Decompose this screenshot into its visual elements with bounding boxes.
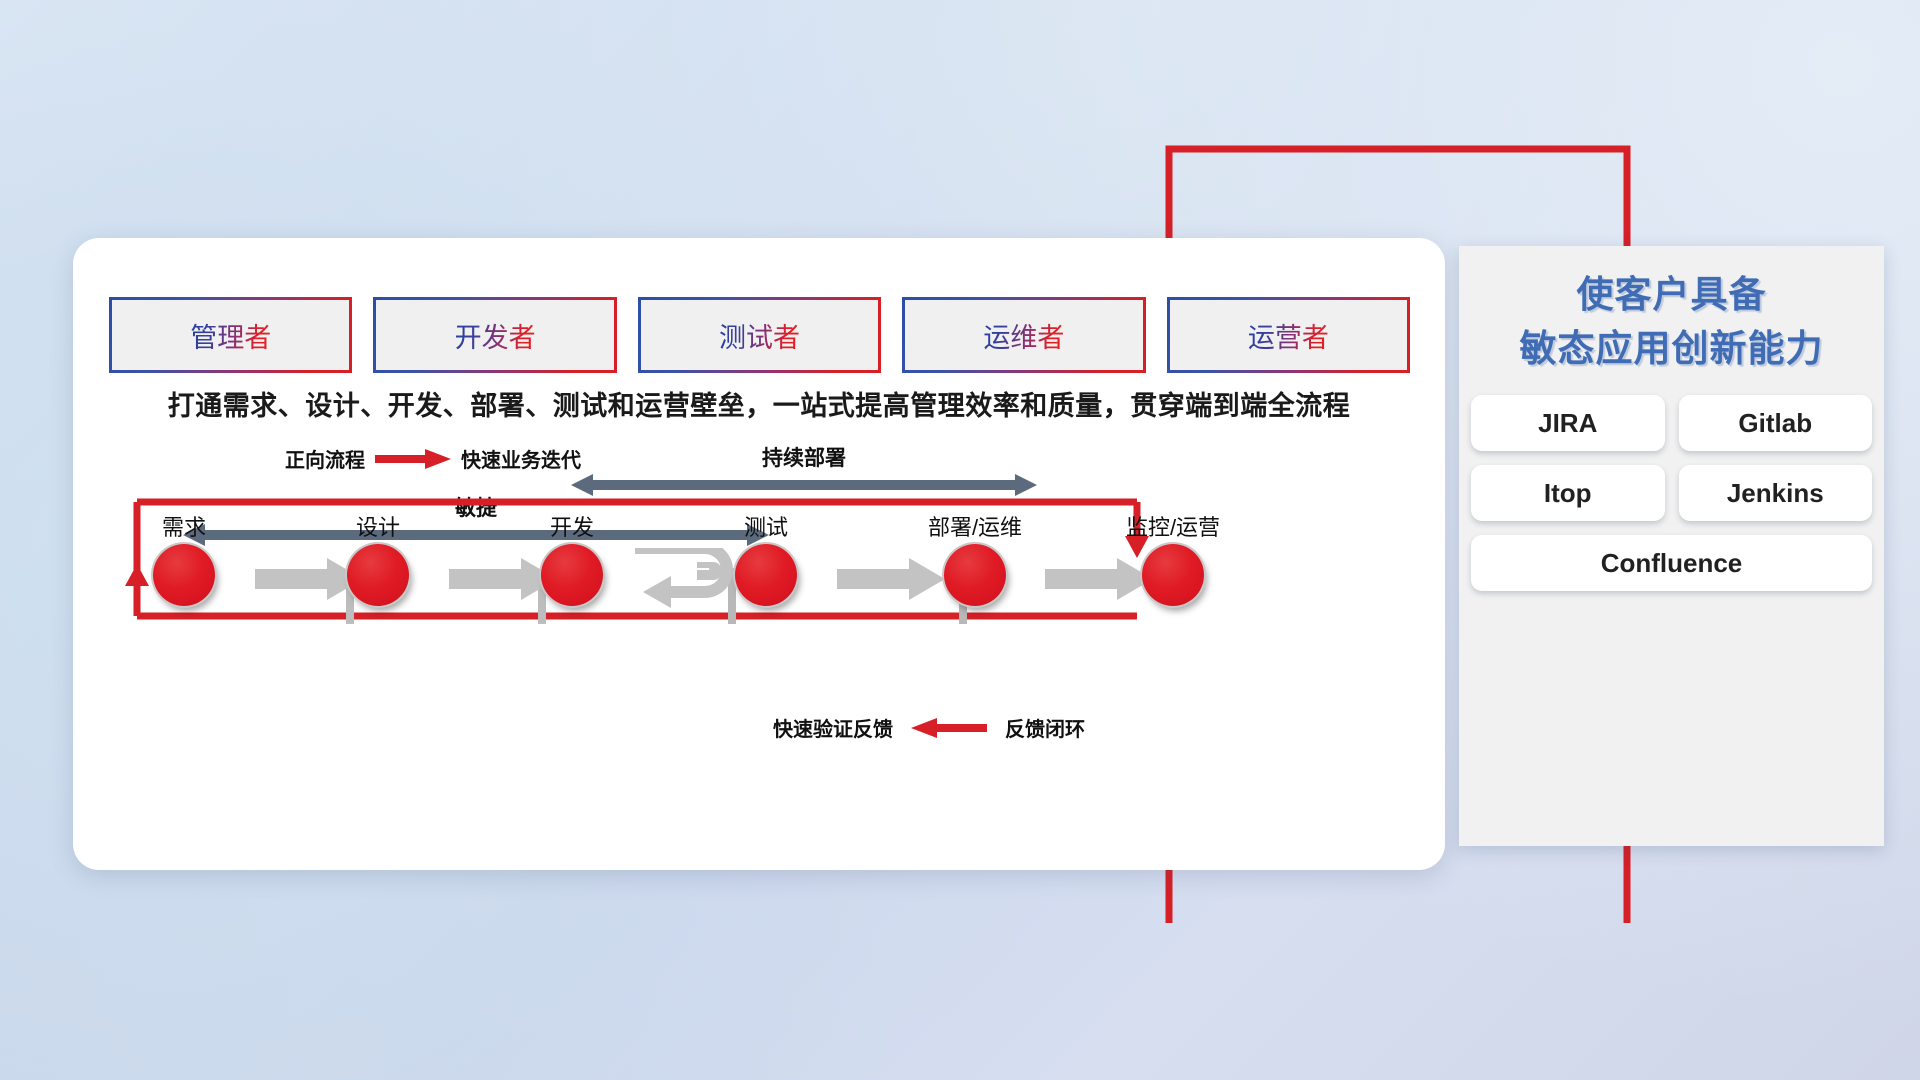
pipeline-stage-dot (944, 544, 1006, 606)
pipeline-stage-label: 部署/运维 (895, 510, 1055, 542)
role-box-ops[interactable]: 运维者 (905, 300, 1142, 370)
tool-chip-jira[interactable]: JIRA (1471, 395, 1665, 451)
headline-text: 打通需求、设计、开发、部署、测试和运营壁垒，一站式提高管理效率和质量，贯穿端到端… (73, 384, 1445, 423)
devops-pipeline: 需求 设计 开发 测试 (107, 510, 1412, 630)
tool-chip-itop[interactable]: Itop (1471, 465, 1665, 521)
pipeline-stage-label: 需求 (119, 510, 249, 542)
panel-title-line-2: 敏态应用创新能力 (1459, 322, 1884, 376)
role-label: 测试者 (719, 316, 800, 355)
slide-canvas: 管理者 开发者 测试者 运维者 运营者 打通需求、设计、开发、部署、测试和运营壁… (0, 0, 1920, 1080)
pipeline-stage-dot (153, 544, 215, 606)
pipeline-stage-dot (347, 544, 409, 606)
panel-title-line-1: 使客户具备 (1459, 268, 1884, 322)
role-box-developer[interactable]: 开发者 (376, 300, 613, 370)
tool-chip-confluence[interactable]: Confluence (1471, 535, 1872, 591)
pipeline-stage-dot (541, 544, 603, 606)
legend-feedback-target: 快速验证反馈 (773, 713, 893, 742)
pipeline-stage-dot (1142, 544, 1204, 606)
role-box-manager[interactable]: 管理者 (112, 300, 349, 370)
role-box-tester[interactable]: 测试者 (641, 300, 878, 370)
pipeline-stage-develop[interactable]: 开发 (507, 510, 637, 606)
pipeline-stage-requirements[interactable]: 需求 (119, 510, 249, 606)
pipeline-stage-deploy-ops[interactable]: 部署/运维 (895, 510, 1055, 606)
tool-chip-gitlab[interactable]: Gitlab (1679, 395, 1873, 451)
role-box-row: 管理者 开发者 测试者 运维者 运营者 (112, 300, 1407, 370)
role-label: 运营者 (1248, 316, 1329, 355)
role-box-operations[interactable]: 运营者 (1170, 300, 1407, 370)
role-label: 开发者 (455, 316, 536, 355)
tool-chip-grid: JIRA Gitlab Itop Jenkins Confluence (1471, 395, 1872, 591)
pipeline-stage-label: 测试 (701, 510, 831, 542)
pipeline-stage-test[interactable]: 测试 (701, 510, 831, 606)
legend-feedback-source: 反馈闭环 (1005, 713, 1085, 742)
role-label: 管理者 (190, 316, 271, 355)
pipeline-stage-label: 开发 (507, 510, 637, 542)
main-card: 管理者 开发者 测试者 运维者 运营者 打通需求、设计、开发、部署、测试和运营壁… (73, 238, 1445, 870)
legend-feedback-loop: 快速验证反馈 反馈闭环 (773, 713, 1085, 742)
pipeline-stage-dot (735, 544, 797, 606)
role-label: 运维者 (983, 316, 1064, 355)
panel-title: 使客户具备 敏态应用创新能力 (1459, 268, 1884, 375)
pipeline-stage-label: 监控/运营 (1093, 510, 1253, 542)
pipeline-stage-design[interactable]: 设计 (313, 510, 443, 606)
tooling-panel: 使客户具备 敏态应用创新能力 JIRA Gitlab Itop Jenkins … (1459, 246, 1884, 846)
pipeline-stage-label: 设计 (313, 510, 443, 542)
tool-chip-jenkins[interactable]: Jenkins (1679, 465, 1873, 521)
pipeline-stage-monitor-operations[interactable]: 监控/运营 (1093, 510, 1253, 606)
arrow-left-red-icon (911, 717, 987, 739)
